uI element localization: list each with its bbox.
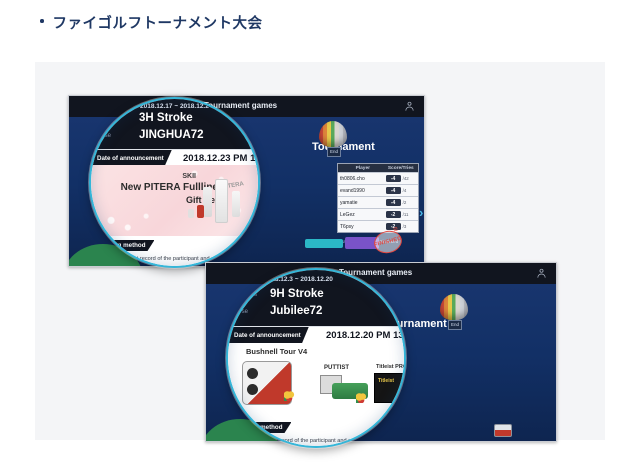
lens-value-course-2: Jubilee72 xyxy=(270,305,322,317)
cell-player: th0806.cho xyxy=(340,176,386,182)
toy-cart-icon xyxy=(494,424,512,437)
product-bottle-icon xyxy=(215,179,228,223)
score-table-header-1: Player Score/Tries xyxy=(338,164,418,172)
announcement-time-2: 2018.12.20 PM 13: xyxy=(326,327,406,344)
ranking-method-tag-2: Ranking method xyxy=(228,422,291,433)
product-bottle-icon xyxy=(197,205,204,218)
lens-header-2: 2018.12.3 ~ 2018.12.20 conditions 9H Str… xyxy=(228,270,404,326)
flower-decoration-icon xyxy=(356,393,367,403)
ranking-line-1: Takes the lowest record of the participa… xyxy=(234,438,374,444)
cell-player: evand1990 xyxy=(340,188,386,194)
prize-banner-2: Bushnell Tour V4 PUTTIST Titleist PROV1X… xyxy=(228,343,404,418)
person-icon[interactable] xyxy=(404,100,415,113)
prize-label-3: Titleist PROV1X xyxy=(376,364,406,370)
page-title: ファイゴルフトーナメント大会 xyxy=(40,12,263,33)
lens-inner-1: 2018.12.17 ~ 2018.12.2 conditions 3H Str… xyxy=(91,99,258,266)
col-player-1: Player xyxy=(340,166,386,171)
product-bottle-icon xyxy=(232,191,240,217)
lens-label-course-1: course xyxy=(93,133,111,139)
score-table-1[interactable]: Player Score/Tries th0806.cho -4/42 evan… xyxy=(337,163,419,233)
bullet-icon xyxy=(40,19,44,23)
cell-score: -4 xyxy=(386,187,401,194)
product-bottle-icon xyxy=(203,187,212,217)
lens-date-range-2: 2018.12.3 ~ 2018.12.20 xyxy=(264,276,333,283)
next-chevron-icon-1[interactable]: › xyxy=(419,205,423,220)
cell-score: -4 xyxy=(386,175,401,182)
lens-label-conditions-1: conditions xyxy=(93,116,120,122)
flower-decoration-icon xyxy=(284,391,295,401)
table-row[interactable]: LeGez -2/11 xyxy=(338,208,418,220)
lens-value-conditions-2: 9H Stroke xyxy=(270,288,324,300)
product-bottle-icon xyxy=(188,209,194,218)
golfball-box-icon: Titleist xyxy=(374,373,406,403)
announcement-tag-2: Date of announcement xyxy=(228,327,309,344)
lens-inner-2: 2018.12.3 ~ 2018.12.20 conditions 9H Str… xyxy=(228,270,404,446)
cell-tries: /42 xyxy=(403,176,409,181)
cell-player: yamatie xyxy=(340,200,386,206)
cell-score: -4 xyxy=(386,199,401,206)
cell-tries: /2 xyxy=(403,200,407,205)
lens-label-conditions-2: conditions xyxy=(230,292,257,298)
lens-date-range-1: 2018.12.17 ~ 2018.12.2 xyxy=(140,103,209,110)
cell-score: -2 xyxy=(386,211,401,218)
balloon-end-label-1: End xyxy=(327,147,341,157)
slide-root: ファイゴルフトーナメント大会 Tournament games Tourname… xyxy=(0,0,640,469)
balloon-end-icon-2[interactable]: End xyxy=(438,294,472,334)
ranking-method-tag-1: Ranking method xyxy=(91,240,154,251)
prize-line2-1: Gift Set xyxy=(186,195,218,205)
magnifier-lens-2: 2018.12.3 ~ 2018.12.20 conditions 9H Str… xyxy=(226,268,406,448)
magnifier-lens-1: 2018.12.17 ~ 2018.12.2 conditions 3H Str… xyxy=(89,97,260,268)
lens-value-conditions-1: 3H Stroke xyxy=(139,112,193,124)
balloon-envelope-2 xyxy=(440,294,468,320)
cell-player: T6psy xyxy=(340,224,386,230)
balloon-end-label-2: End xyxy=(448,320,462,330)
teal-accent-1 xyxy=(305,239,343,248)
rangefinder-lens-icon xyxy=(247,368,258,379)
table-row[interactable]: evand1990 -4/4 xyxy=(338,184,418,196)
prize-label-1: Bushnell Tour V4 xyxy=(246,347,307,356)
teal-accent-2 xyxy=(556,418,557,427)
table-row[interactable]: th0806.cho -4/42 xyxy=(338,172,418,184)
prize-banner-1: SKII New PITERA Fullline Gift Set PITERA xyxy=(91,165,258,236)
cell-tries: /4 xyxy=(403,188,407,193)
cell-player: LeGez xyxy=(340,212,386,218)
lens-label-course-2: course xyxy=(230,309,248,315)
announcement-tag-1: Date of announcement xyxy=(91,150,172,166)
ballbox-brand: Titleist xyxy=(378,378,394,384)
balloon-end-icon-1[interactable]: End xyxy=(317,121,351,161)
page-title-text: ファイゴルフトーナメント大会 xyxy=(53,12,263,33)
lens-value-course-1: JINGHUA72 xyxy=(139,129,204,141)
col-score-1: Score/Tries xyxy=(386,166,416,171)
lens-header-1: 2018.12.17 ~ 2018.12.2 conditions 3H Str… xyxy=(91,99,258,149)
ranking-method-2: Ranking method Takes the lowest record o… xyxy=(228,418,404,446)
person-icon[interactable] xyxy=(536,267,547,280)
cell-tries: /11 xyxy=(403,212,409,217)
prize-label-2: PUTTIST xyxy=(324,365,349,371)
balloon-envelope-1 xyxy=(319,121,347,147)
prize-brand-1: SKII xyxy=(182,173,196,180)
announcement-time-1: 2018.12.23 PM 1 xyxy=(183,150,255,166)
table-row[interactable]: yamatie -4/2 xyxy=(338,196,418,208)
rangefinder-lens-icon xyxy=(247,384,258,395)
